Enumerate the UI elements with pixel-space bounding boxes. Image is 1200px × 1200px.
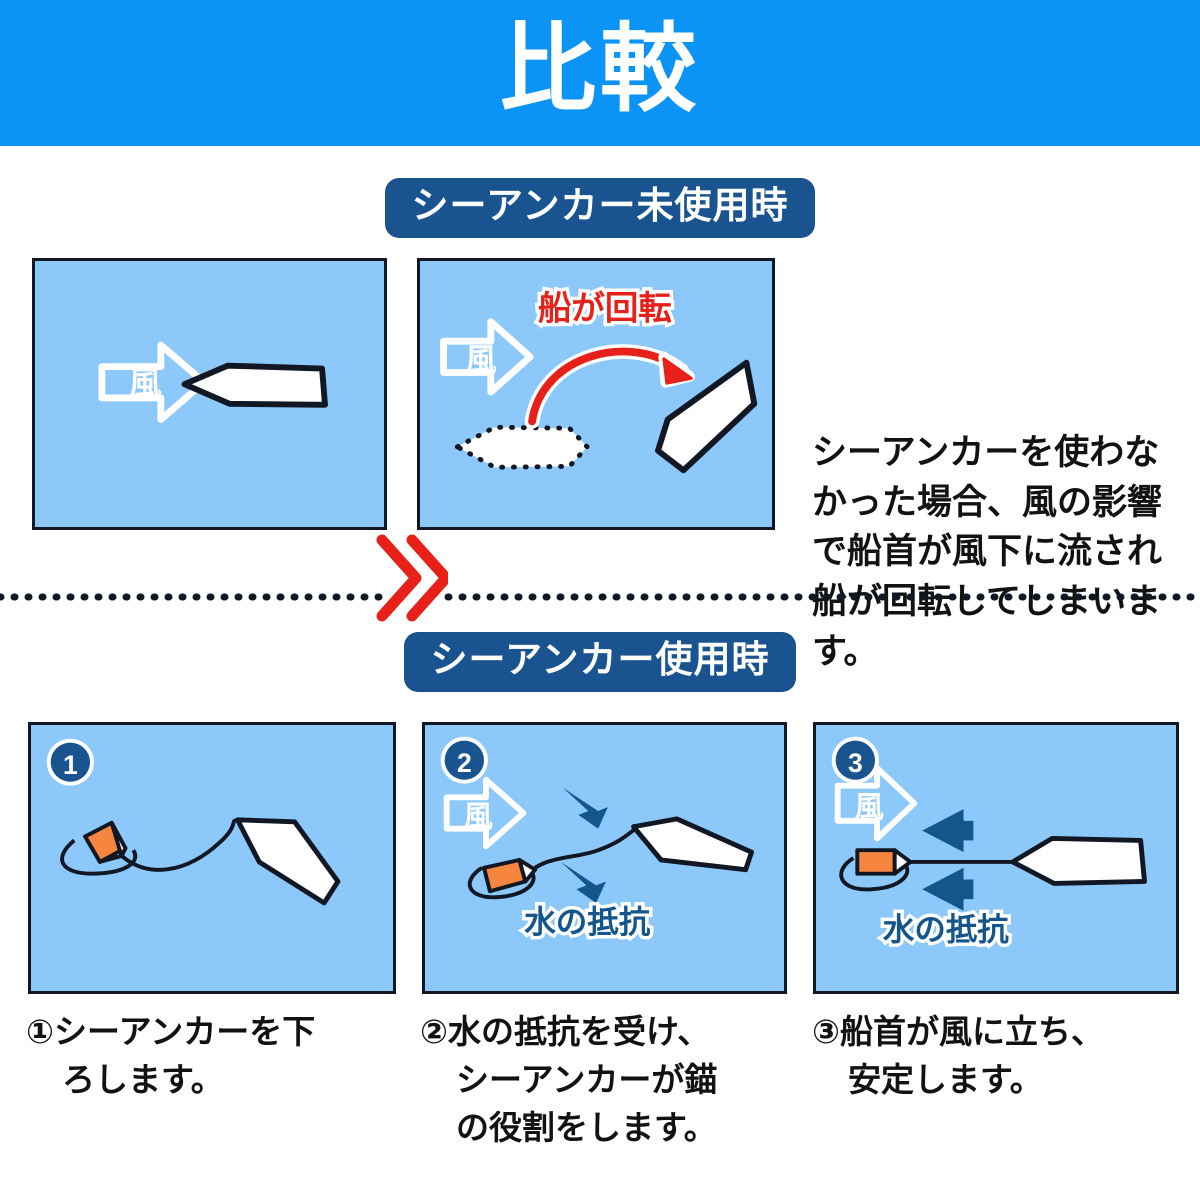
rope-line: [118, 820, 240, 869]
panel-step-2: 2 風: [422, 722, 787, 994]
badge-row-without: シーアンカー未使用時: [0, 178, 1200, 238]
boat-hull: [184, 366, 325, 405]
panel-step-3: 3 風: [813, 722, 1179, 994]
step-number-1: 1: [63, 750, 78, 780]
panel-step-2-art: 2 風: [425, 725, 784, 991]
section-badge-with: シーアンカー使用時: [404, 632, 795, 692]
step-number-3: 3: [848, 748, 863, 778]
wind-label-before: 風: [128, 366, 161, 403]
panels-with: 1: [0, 722, 1200, 1000]
boat-hull: [1013, 838, 1145, 883]
panel-step-1: 1: [28, 722, 396, 994]
wind-label-step-2: 風: [463, 801, 493, 834]
ghost-boat-dotted: [457, 427, 587, 467]
caption-3-line-1: ③船首が風に立ち、: [812, 1013, 1104, 1050]
resistance-label-step-3: 水の抵抗: [882, 912, 1009, 947]
wind-label-after: 風: [465, 343, 496, 378]
caption-2-line-2: シーアンカーが錨: [420, 1056, 785, 1104]
resistance-label-step-2: 水の抵抗: [523, 904, 650, 939]
section-without-sea-anchor: シーアンカー未使用時 風 風: [0, 160, 1200, 580]
panel-without-before-art: 風: [35, 261, 384, 527]
page-title: 比較: [500, 22, 700, 124]
rotation-arrow-icon: [532, 352, 691, 422]
wind-label-step-3: 風: [854, 791, 884, 824]
caption-1-line-2: ろします。: [26, 1056, 386, 1104]
panel-without-before: 風: [32, 258, 387, 530]
sea-anchor-icon: [857, 850, 910, 873]
section-divider: [0, 588, 1200, 596]
caption-step-2: ②水の抵抗を受け、 シーアンカーが錨 の役割をします。: [420, 1008, 785, 1152]
step-number-badge-3: 3: [832, 737, 879, 784]
step-number-badge-1: 1: [47, 739, 94, 786]
caption-1-line-1: ①シーアンカーを下: [26, 1013, 315, 1050]
panel-without-after: 風 船が回転: [417, 258, 775, 530]
badge-row-with: シーアンカー使用時: [0, 632, 1200, 692]
rotation-label: 船が回転: [538, 290, 672, 328]
transition-chevrons: [372, 524, 448, 632]
rope-line: [523, 829, 635, 880]
double-chevron-right-icon: [372, 524, 448, 632]
boat-hull: [238, 820, 338, 903]
panel-without-after-art: 風 船が回転: [420, 261, 772, 527]
caption-2-line-3: の役割をします。: [420, 1104, 785, 1152]
section-badge-without: シーアンカー未使用時: [385, 178, 814, 238]
resistance-arrow-icon: [561, 788, 608, 903]
divider-dots: [0, 593, 1200, 601]
panel-step-3-art: 3 風: [816, 725, 1176, 991]
sea-anchor-icon: [85, 823, 125, 862]
step-number-badge-2: 2: [441, 737, 488, 784]
panel-step-1-art: 1: [31, 725, 393, 991]
caption-step-1: ①シーアンカーを下 ろします。: [26, 1008, 386, 1104]
page-header: 比較: [0, 0, 1200, 146]
caption-3-line-2: 安定します。: [812, 1056, 1182, 1104]
boat-hull: [634, 819, 752, 870]
step-number-2: 2: [457, 748, 472, 778]
caption-step-3: ③船首が風に立ち、 安定します。: [812, 1008, 1182, 1104]
section-with-sea-anchor: シーアンカー使用時 1: [0, 618, 1200, 1200]
caption-2-line-1: ②水の抵抗を受け、: [420, 1013, 710, 1050]
